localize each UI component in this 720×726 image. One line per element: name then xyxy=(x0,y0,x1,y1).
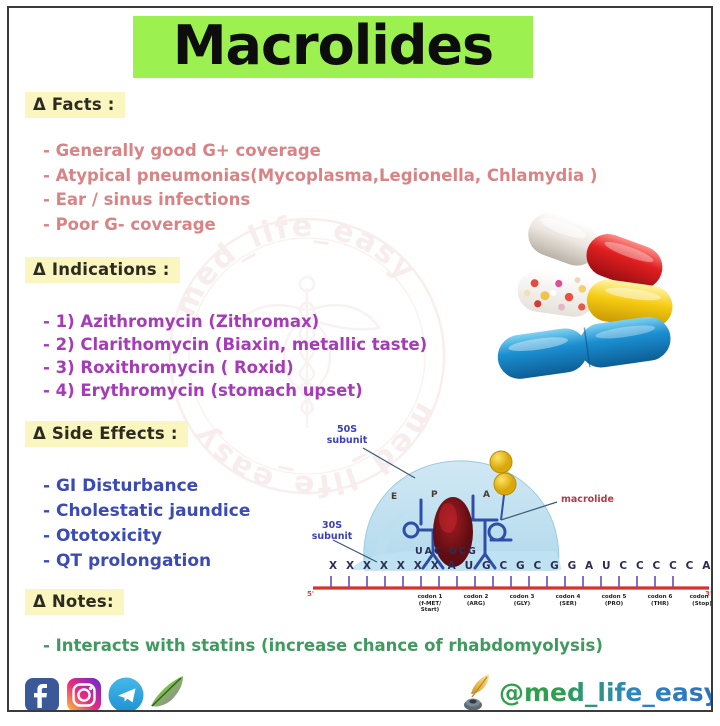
notes-list: - Interacts with statins (increase chanc… xyxy=(43,634,603,658)
side-effect-line: - GI Disturbance xyxy=(43,474,250,499)
facebook-icon xyxy=(25,678,59,712)
five-prime-label: 5' xyxy=(307,590,314,598)
label-30s-text: 30S xyxy=(322,520,342,531)
site-e: E xyxy=(391,492,397,502)
side-effect-line: - Cholestatic jaundice xyxy=(43,499,250,524)
side-effect-line: - QT prolongation xyxy=(43,549,250,574)
label-50s-subunit: 50S subunit xyxy=(321,424,373,446)
label-macrolide: macrolide xyxy=(561,494,614,505)
brand-handle: @med_life_easy © xyxy=(461,670,713,712)
infographic-card: med_life_easy med_life_easy Macrolides Δ… xyxy=(7,6,713,712)
anticodon-sequence: UAC GCG xyxy=(415,546,478,557)
facts-line: - Atypical pneumonias(Mycoplasma,Legione… xyxy=(43,164,597,189)
notes-line: - Interacts with statins (increase chanc… xyxy=(43,634,603,658)
side-effect-line: - Ototoxicity xyxy=(43,524,250,549)
site-a: A xyxy=(483,490,490,500)
section-header-facts: Δ Facts : xyxy=(25,92,125,118)
handle-text: @med_life_easy xyxy=(499,678,713,707)
ribosome-macrolide-diagram: 50S subunit 30S subunit macrolide E P A … xyxy=(305,420,713,610)
codon-label: codon 6 (THR) xyxy=(639,594,681,607)
facts-line: - Generally good G+ coverage xyxy=(43,139,597,164)
codon-label: codon 1 (f-MET/ Start) xyxy=(409,594,451,614)
page-title: Macrolides xyxy=(133,10,533,82)
codon-label: codon 5 (PRO) xyxy=(593,594,635,607)
label-30s-subunit: 30S subunit xyxy=(305,520,359,542)
capsules-illustration xyxy=(487,204,713,384)
indication-line: - 4) Erythromycin (stomach upset) xyxy=(43,379,427,402)
social-links[interactable] xyxy=(23,672,193,712)
indication-line: - 2) Clarithomycin (Biaxin, metallic tas… xyxy=(43,333,427,356)
indication-line: - 3) Roxithromycin ( Roxid) xyxy=(43,356,427,379)
feather-icon xyxy=(151,676,183,707)
label-50s-text: 50S xyxy=(337,424,357,435)
label-50s-sub-text: subunit xyxy=(327,435,368,446)
section-header-side-effects: Δ Side Effects : xyxy=(25,421,188,447)
codon-label: codon 2 (ARG) xyxy=(455,594,497,607)
telegram-icon xyxy=(109,678,144,713)
side-effects-list: - GI Disturbance - Cholestatic jaundice … xyxy=(43,474,250,574)
mrna-sequence: X X X X X X X A U G C G C G G A U C C C … xyxy=(329,560,713,572)
codon-label: codon 7 (Stop) xyxy=(681,594,713,607)
site-p: P xyxy=(431,490,438,500)
section-header-indications: Δ Indications : xyxy=(25,257,180,283)
section-header-notes: Δ Notes: xyxy=(25,589,124,615)
quill-inkwell-icon xyxy=(461,672,495,712)
label-30s-sub-text: subunit xyxy=(312,531,353,542)
instagram-icon xyxy=(67,678,101,712)
codon-label: codon 4 (SER) xyxy=(547,594,589,607)
indications-list: - 1) Azithromycin (Zithromax) - 2) Clari… xyxy=(43,310,427,402)
indication-line: - 1) Azithromycin (Zithromax) xyxy=(43,310,427,333)
codon-label: codon 3 (GLY) xyxy=(501,594,543,607)
